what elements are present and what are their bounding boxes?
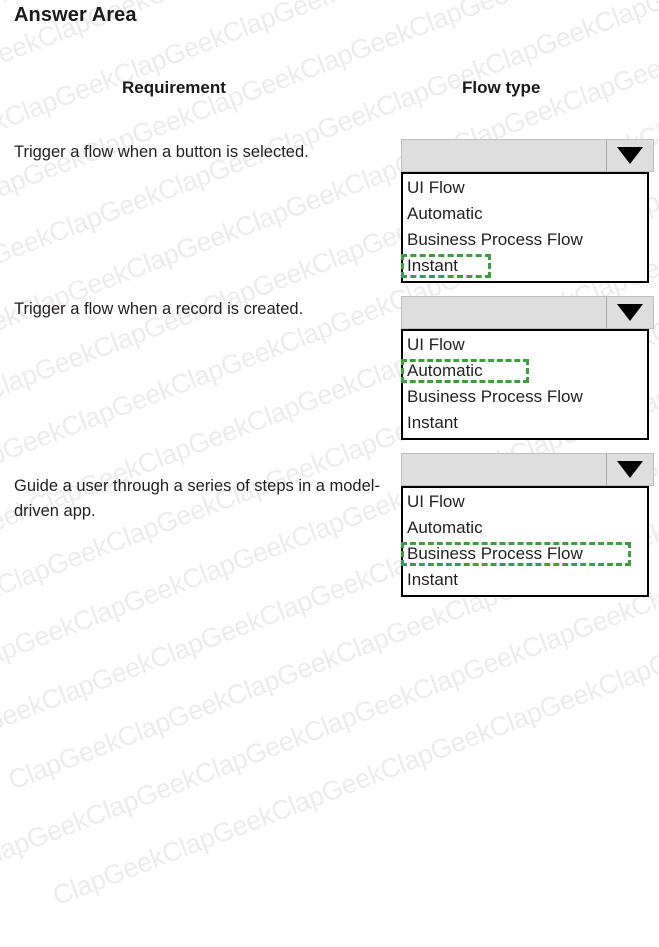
- flow-type-combobox[interactable]: [401, 296, 654, 329]
- answer-area-page: Answer Area Requirement Flow type Trigge…: [0, 0, 659, 604]
- flow-type-combobox[interactable]: [401, 139, 654, 172]
- page-title: Answer Area: [14, 4, 137, 27]
- option-item-selected[interactable]: Instant: [403, 253, 647, 279]
- option-item-selected[interactable]: Automatic: [403, 358, 647, 384]
- option-item[interactable]: Instant: [403, 410, 647, 436]
- option-item[interactable]: Automatic: [403, 515, 647, 541]
- option-item[interactable]: Instant: [403, 567, 647, 593]
- option-item[interactable]: UI Flow: [403, 489, 647, 515]
- chevron-down-icon: [617, 461, 643, 478]
- column-header-requirement: Requirement: [122, 78, 226, 98]
- option-item[interactable]: UI Flow: [403, 332, 647, 358]
- combobox-value: [402, 454, 606, 485]
- flow-type-option-list[interactable]: UI Flow Automatic Business Process Flow …: [401, 172, 649, 283]
- option-item[interactable]: Automatic: [403, 201, 647, 227]
- flow-type-option-list[interactable]: UI Flow Automatic Business Process Flow …: [401, 486, 649, 597]
- option-item[interactable]: Business Process Flow: [403, 384, 647, 410]
- option-item-selected[interactable]: Business Process Flow: [403, 541, 647, 567]
- flow-type-option-list[interactable]: UI Flow Automatic Business Process Flow …: [401, 329, 649, 440]
- combobox-value: [402, 140, 606, 171]
- requirement-text: Trigger a flow when a button is selected…: [14, 140, 394, 165]
- requirement-text: Guide a user through a series of steps i…: [14, 474, 394, 524]
- option-item[interactable]: Business Process Flow: [403, 227, 647, 253]
- combobox-toggle-button[interactable]: [606, 140, 653, 171]
- chevron-down-icon: [617, 147, 643, 164]
- flow-type-combobox[interactable]: [401, 453, 654, 486]
- requirement-text: Trigger a flow when a record is created.: [14, 297, 394, 322]
- combobox-value: [402, 297, 606, 328]
- combobox-toggle-button[interactable]: [606, 297, 653, 328]
- combobox-toggle-button[interactable]: [606, 454, 653, 485]
- column-header-flow-type: Flow type: [462, 78, 540, 98]
- chevron-down-icon: [617, 304, 643, 321]
- option-item[interactable]: UI Flow: [403, 175, 647, 201]
